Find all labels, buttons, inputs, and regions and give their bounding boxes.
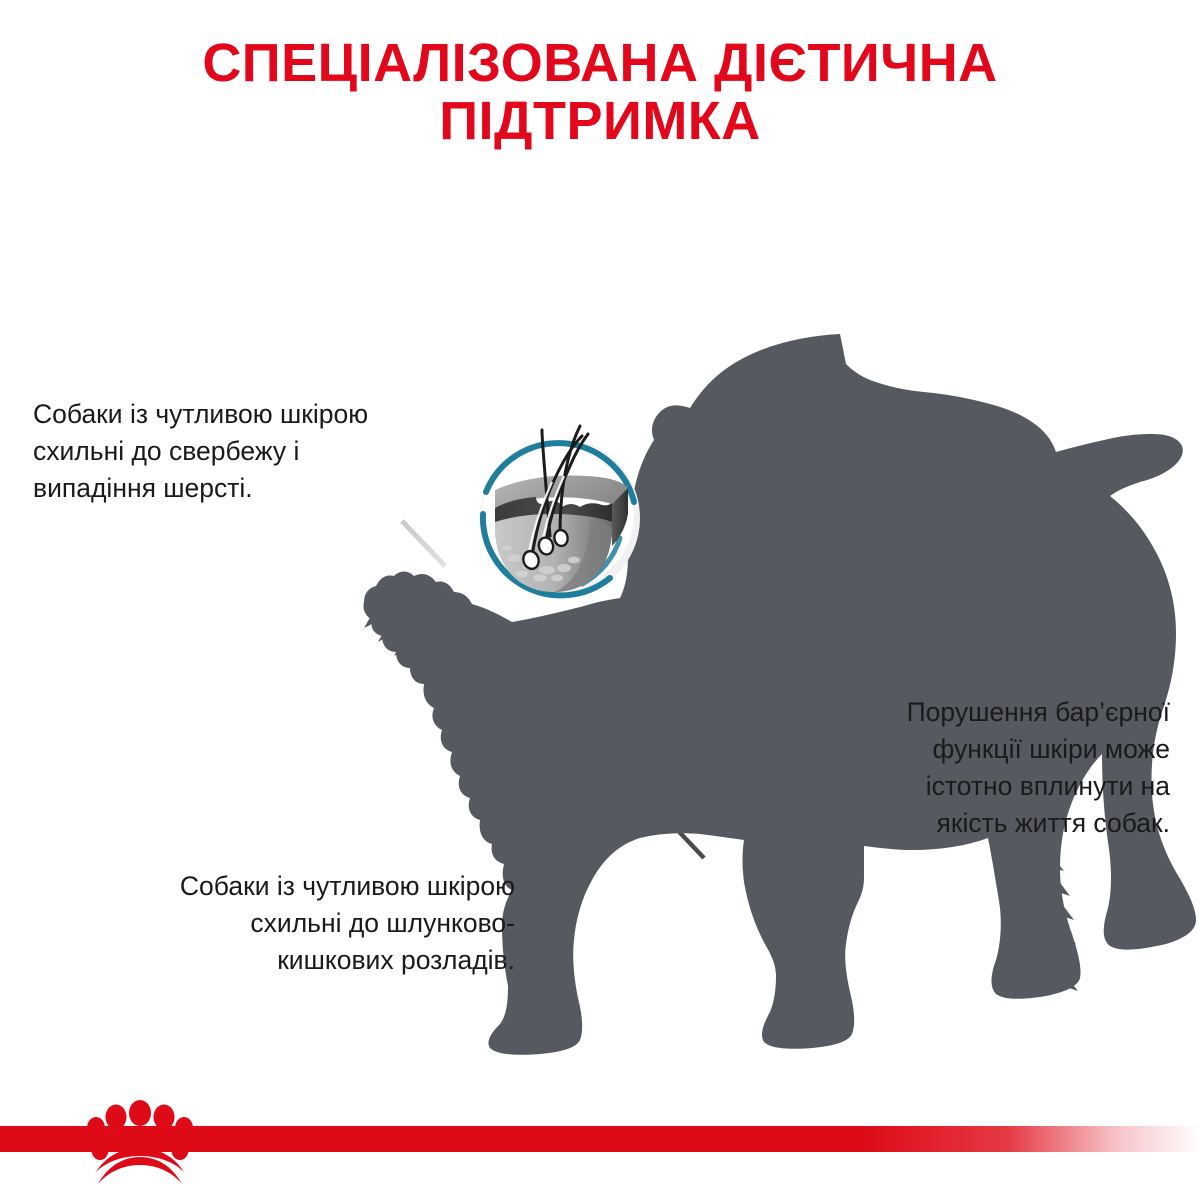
callout-digestive: Собаки із чутливою шкірою схильні до шлу… bbox=[60, 868, 515, 979]
royal-canin-crown-logo bbox=[78, 1100, 202, 1186]
callout-skin-itch: Собаки із чутливою шкірою схильні до све… bbox=[33, 396, 503, 507]
callout-barrier-function: Порушення бар’єрної функції шкіри може і… bbox=[820, 694, 1170, 842]
